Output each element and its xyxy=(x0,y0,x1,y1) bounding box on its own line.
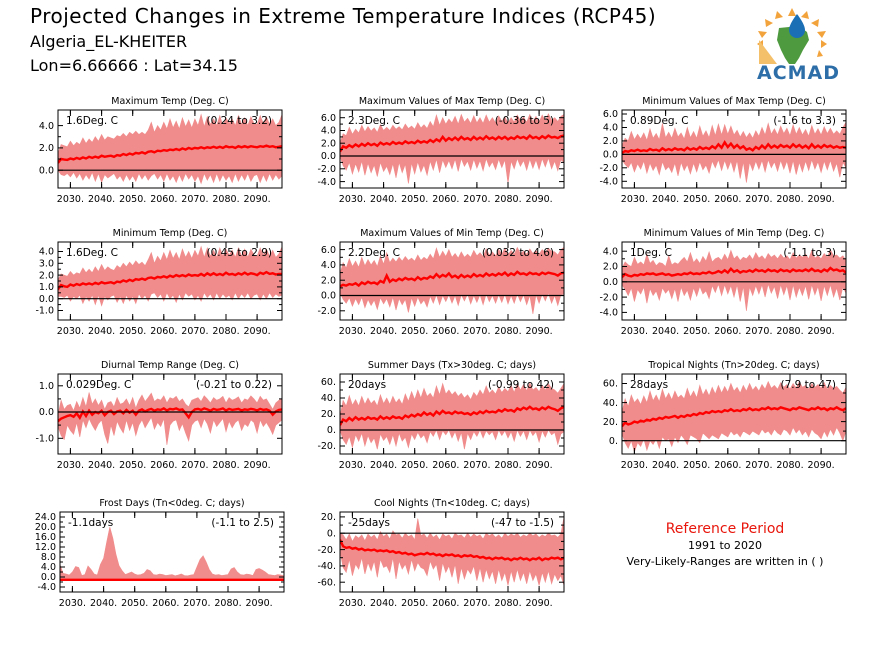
y-tick-label: 20. xyxy=(603,417,618,428)
y-tick-label: -60. xyxy=(317,577,336,588)
y-tick-label: -2.0 xyxy=(599,292,618,303)
range-label: (-0.99 to 42) xyxy=(488,379,554,391)
mean-value-label: -25days xyxy=(348,517,390,529)
x-tick-label: 2030. xyxy=(339,194,366,205)
x-tick-label: 2080. xyxy=(776,460,803,471)
chart-panel-minimum-values-of-max-temp: Minimum Values of Max Temp (Deg. C)-4.0-… xyxy=(582,90,852,218)
x-tick-label: 2070. xyxy=(181,194,208,205)
y-tick-label: 4.0 xyxy=(603,246,618,257)
x-tick-label: 2040. xyxy=(88,194,115,205)
y-tick-label: -4.0 xyxy=(37,582,56,593)
mean-value-label: 1.6Deg. C xyxy=(66,247,118,259)
chart-title: Frost Days (Tn<0deg. C; days) xyxy=(99,498,244,509)
x-tick-label: 2050. xyxy=(683,194,710,205)
range-label: (-47 to -1.5) xyxy=(491,517,554,529)
legend-years: 1991 to 2020 xyxy=(580,538,870,554)
mean-value-label: 2.3Deg. C xyxy=(348,115,400,127)
y-tick-label: 4.0 xyxy=(321,260,336,271)
y-tick-label: 24.0 xyxy=(35,512,56,523)
mean-value-label: 28days xyxy=(630,379,668,391)
y-tick-label: 40. xyxy=(603,398,618,409)
chart-panel-summer-days: Summer Days (Tx>30deg. C; days)-20.0.20.… xyxy=(300,354,570,484)
x-tick-label: 2030. xyxy=(57,326,84,337)
x-tick-label: 2060. xyxy=(150,326,177,337)
mean-value-label: 20days xyxy=(348,379,386,391)
x-tick-label: 2040. xyxy=(88,460,115,471)
y-tick-label: 4.0 xyxy=(39,121,54,132)
chart-panel-tropical-nights: Tropical Nights (Tn>20deg. C; days)0.20.… xyxy=(582,354,852,484)
x-tick-label: 2030. xyxy=(339,598,366,609)
y-tick-label: 0. xyxy=(327,425,336,436)
range-label: (-1.6 to 3.3) xyxy=(773,115,836,127)
x-tick-label: 2050. xyxy=(121,598,148,609)
chart-title: Tropical Nights (Tn>20deg. C; days) xyxy=(647,360,819,371)
y-tick-label: -4.0 xyxy=(599,177,618,188)
x-tick-label: 2080. xyxy=(494,598,521,609)
x-tick-label: 2070. xyxy=(745,326,772,337)
x-tick-label: 2030. xyxy=(621,326,648,337)
acmad-logo: ACMAD xyxy=(737,6,847,82)
range-label: (-0.36 to 5) xyxy=(495,115,554,127)
x-tick-label: 2050. xyxy=(401,460,428,471)
x-tick-label: 2090. xyxy=(243,326,270,337)
x-tick-label: 2050. xyxy=(119,326,146,337)
x-tick-label: 2050. xyxy=(119,194,146,205)
x-tick-label: 2090. xyxy=(525,460,552,471)
x-tick-label: 2080. xyxy=(776,326,803,337)
y-tick-label: 0.0 xyxy=(603,277,618,288)
y-tick-label: 0.0 xyxy=(39,294,54,305)
range-label: (-1.1 to 2.5) xyxy=(211,517,274,529)
x-tick-label: 2090. xyxy=(243,460,270,471)
coordinates: Lon=6.66666 : Lat=34.15 xyxy=(30,56,238,75)
y-tick-label: 0.0 xyxy=(39,165,54,176)
mean-value-label: 1Deg. C xyxy=(630,247,672,259)
x-tick-label: 2040. xyxy=(370,460,397,471)
y-tick-label: -1.0 xyxy=(35,434,54,445)
y-tick-label: 4.0 xyxy=(321,126,336,137)
x-tick-label: 2090. xyxy=(245,598,272,609)
y-tick-label: 12.0 xyxy=(35,542,56,553)
range-label: (0.032 to 4.6) xyxy=(482,247,554,259)
x-tick-label: 2090. xyxy=(807,326,834,337)
chart-title: Maximum Temp (Deg. C) xyxy=(111,96,228,107)
y-tick-label: 2.0 xyxy=(321,275,336,286)
range-label: (0.45 to 2.9) xyxy=(207,247,273,259)
chart-panel-diurnal-temp-range: Diurnal Temp Range (Deg. C)-1.00.01.0203… xyxy=(18,354,288,484)
chart-title: Cool Nights (Tn<10deg. C; days) xyxy=(374,498,530,509)
x-tick-label: 2030. xyxy=(621,194,648,205)
logo-text: ACMAD xyxy=(757,62,840,82)
mean-value-label: 1.6Deg. C xyxy=(66,115,118,127)
page-header: Projected Changes in Extreme Temperature… xyxy=(0,0,879,88)
x-tick-label: 2040. xyxy=(652,460,679,471)
y-tick-label: 4.0 xyxy=(39,247,54,258)
y-tick-label: -20. xyxy=(317,441,336,452)
x-tick-label: 2070. xyxy=(181,460,208,471)
chart-title: Maximum Values of Min Temp (Deg. C) xyxy=(360,228,544,239)
x-tick-label: 2050. xyxy=(683,326,710,337)
y-tick-label: 0.0 xyxy=(41,572,56,583)
x-tick-label: 2070. xyxy=(463,598,490,609)
y-tick-label: 2.0 xyxy=(39,270,54,281)
x-tick-label: 2060. xyxy=(714,194,741,205)
x-tick-label: 2070. xyxy=(745,194,772,205)
x-tick-label: 2050. xyxy=(683,460,710,471)
page-title: Projected Changes in Extreme Temperature… xyxy=(30,4,656,28)
x-tick-label: 2080. xyxy=(214,598,241,609)
x-tick-label: 2040. xyxy=(370,194,397,205)
y-tick-label: 60. xyxy=(603,379,618,390)
x-tick-label: 2060. xyxy=(150,460,177,471)
x-tick-label: 2080. xyxy=(212,326,239,337)
uncertainty-band xyxy=(622,382,846,453)
y-tick-label: 8.0 xyxy=(41,552,56,563)
y-tick-label: 0.0 xyxy=(603,150,618,161)
x-tick-label: 2080. xyxy=(212,194,239,205)
y-tick-label: 40. xyxy=(321,393,336,404)
x-tick-label: 2030. xyxy=(57,460,84,471)
x-tick-label: 2050. xyxy=(401,326,428,337)
y-tick-label: -4.0 xyxy=(317,177,336,188)
range-label: (7.9 to 47) xyxy=(781,379,836,391)
chart-panel-frost-days: Frost Days (Tn<0deg. C; days)-4.00.04.08… xyxy=(8,492,290,622)
x-tick-label: 2070. xyxy=(463,194,490,205)
mean-value-label: 2.2Deg. C xyxy=(348,247,400,259)
x-tick-label: 2070. xyxy=(463,460,490,471)
y-tick-label: 4.0 xyxy=(603,123,618,134)
x-tick-label: 2070. xyxy=(181,326,208,337)
x-tick-label: 2080. xyxy=(494,460,521,471)
range-label: (-1.1 to 3) xyxy=(783,247,836,259)
water-drop-icon xyxy=(789,14,805,38)
chart-panel-maximum-values-of-max-temp: Maximum Values of Max Temp (Deg. C)-4.0-… xyxy=(300,90,570,218)
mean-value-label: -1.1days xyxy=(68,517,113,529)
x-tick-label: 2040. xyxy=(652,194,679,205)
x-tick-label: 2090. xyxy=(525,598,552,609)
x-tick-label: 2040. xyxy=(370,598,397,609)
x-tick-label: 2030. xyxy=(57,194,84,205)
chart-panel-minimum-temp: Minimum Temp (Deg. C)-1.00.01.02.03.04.0… xyxy=(18,222,288,350)
y-tick-label: -2.0 xyxy=(317,164,336,175)
x-tick-label: 2060. xyxy=(714,326,741,337)
y-tick-label: 6.0 xyxy=(603,109,618,120)
uncertainty-band xyxy=(60,527,284,580)
x-tick-label: 2060. xyxy=(432,326,459,337)
y-tick-label: 6.0 xyxy=(321,113,336,124)
y-tick-label: 2.0 xyxy=(39,143,54,154)
x-tick-label: 2040. xyxy=(90,598,117,609)
y-tick-label: 0. xyxy=(327,528,336,539)
legend-note: Very-Likely-Ranges are written in ( ) xyxy=(580,554,870,570)
y-tick-label: 0.0 xyxy=(321,151,336,162)
x-tick-label: 2090. xyxy=(525,326,552,337)
y-tick-label: 0.0 xyxy=(39,407,54,418)
x-tick-label: 2070. xyxy=(745,460,772,471)
mean-value-label: 0.89Deg. C xyxy=(630,115,689,127)
y-tick-label: -20. xyxy=(317,545,336,556)
chart-title: Summer Days (Tx>30deg. C; days) xyxy=(368,360,536,371)
range-label: (0.24 to 3.2) xyxy=(207,115,273,127)
y-tick-label: 3.0 xyxy=(39,259,54,270)
legend-reference-period: Reference Period xyxy=(580,520,870,538)
x-tick-label: 2030. xyxy=(621,460,648,471)
y-tick-label: 6.0 xyxy=(321,245,336,256)
x-tick-label: 2080. xyxy=(212,460,239,471)
x-tick-label: 2040. xyxy=(370,326,397,337)
uncertainty-band xyxy=(58,392,282,444)
y-tick-label: 0.0 xyxy=(321,291,336,302)
x-tick-label: 2060. xyxy=(152,598,179,609)
y-tick-label: 16.0 xyxy=(35,532,56,543)
x-tick-label: 2080. xyxy=(776,194,803,205)
x-tick-label: 2060. xyxy=(432,194,459,205)
x-tick-label: 2050. xyxy=(401,194,428,205)
x-tick-label: 2050. xyxy=(401,598,428,609)
chart-panel-cool-nights: Cool Nights (Tn<10deg. C; days)-60.-40.-… xyxy=(300,492,570,622)
uncertainty-band xyxy=(340,383,564,449)
y-tick-label: 60. xyxy=(321,377,336,388)
x-tick-label: 2060. xyxy=(432,598,459,609)
chart-panel-maximum-temp: Maximum Temp (Deg. C)0.02.04.02030.2040.… xyxy=(18,90,288,218)
x-tick-label: 2030. xyxy=(339,460,366,471)
y-tick-label: 1.0 xyxy=(39,282,54,293)
chart-panel-minimum-values-of-min-temp: Minimum Values of Min Temp (Deg. C)-4.0-… xyxy=(582,222,852,350)
y-tick-label: 1.0 xyxy=(39,381,54,392)
y-tick-label: -2.0 xyxy=(317,306,336,317)
chart-title: Minimum Values of Max Temp (Deg. C) xyxy=(642,96,826,107)
y-tick-label: 20. xyxy=(321,409,336,420)
y-tick-label: 4.0 xyxy=(41,562,56,573)
chart-title: Diurnal Temp Range (Deg. C) xyxy=(101,360,239,371)
y-tick-label: 0. xyxy=(609,436,618,447)
x-tick-label: 2080. xyxy=(494,194,521,205)
y-tick-label: -40. xyxy=(317,561,336,572)
x-tick-label: 2030. xyxy=(59,598,86,609)
y-tick-label: 2.0 xyxy=(603,262,618,273)
x-tick-label: 2090. xyxy=(807,194,834,205)
x-tick-label: 2090. xyxy=(525,194,552,205)
mean-value-label: 0.029Deg. C xyxy=(66,379,131,391)
chart-title: Minimum Values of Min Temp (Deg. C) xyxy=(644,228,825,239)
x-tick-label: 2040. xyxy=(88,326,115,337)
x-tick-label: 2090. xyxy=(243,194,270,205)
chart-title: Minimum Temp (Deg. C) xyxy=(113,228,228,239)
x-tick-label: 2060. xyxy=(150,194,177,205)
x-tick-label: 2080. xyxy=(494,326,521,337)
y-tick-label: 20. xyxy=(321,512,336,523)
x-tick-label: 2060. xyxy=(432,460,459,471)
legend-block: Reference Period 1991 to 2020 Very-Likel… xyxy=(580,520,870,570)
y-tick-label: 20.0 xyxy=(35,522,56,533)
range-label: (-0.21 to 0.22) xyxy=(196,379,272,391)
uncertainty-band xyxy=(622,122,846,183)
chart-title: Maximum Values of Max Temp (Deg. C) xyxy=(359,96,545,107)
x-tick-label: 2070. xyxy=(183,598,210,609)
y-tick-label: 2.0 xyxy=(321,138,336,149)
x-tick-label: 2060. xyxy=(714,460,741,471)
x-tick-label: 2050. xyxy=(119,460,146,471)
x-tick-label: 2030. xyxy=(339,326,366,337)
y-tick-label: 2.0 xyxy=(603,136,618,147)
x-tick-label: 2090. xyxy=(807,460,834,471)
chart-panel-maximum-values-of-min-temp: Maximum Values of Min Temp (Deg. C)-2.00… xyxy=(300,222,570,350)
y-tick-label: -4.0 xyxy=(599,308,618,319)
y-tick-label: -2.0 xyxy=(599,163,618,174)
x-tick-label: 2040. xyxy=(652,326,679,337)
x-tick-label: 2070. xyxy=(463,326,490,337)
y-tick-label: -1.0 xyxy=(35,306,54,317)
station-name: Algeria_EL-KHEITER xyxy=(30,32,187,51)
